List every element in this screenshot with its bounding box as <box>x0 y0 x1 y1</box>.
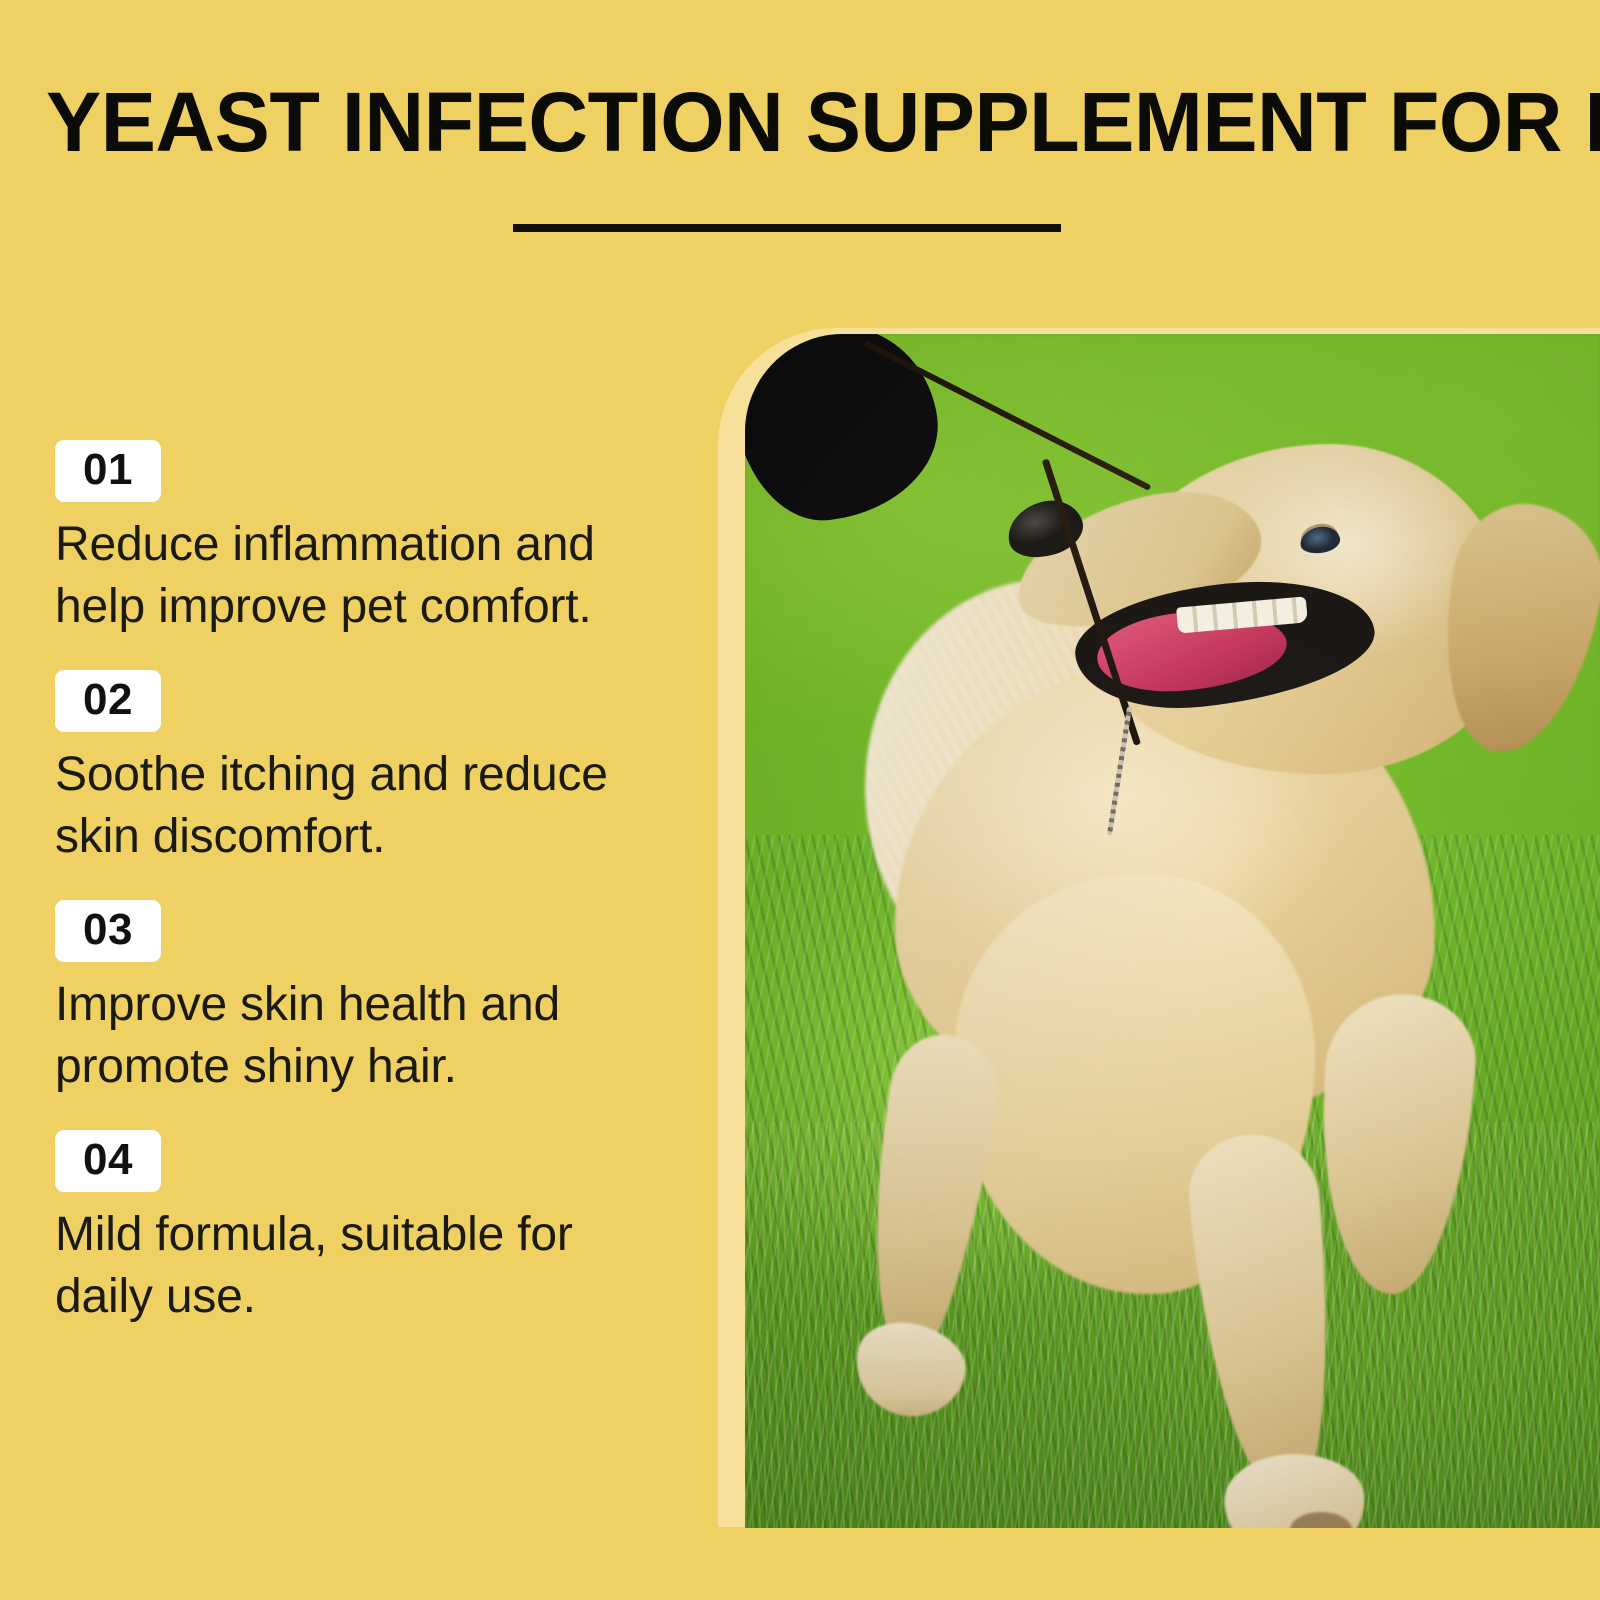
dog-figure <box>745 334 1600 1528</box>
feature-description: Improve skin health and promote shiny ha… <box>55 974 655 1098</box>
feature-item: 02 Soothe itching and reduce skin discom… <box>55 670 665 868</box>
dog-paw <box>1221 1449 1368 1528</box>
feature-item: 04 Mild formula, suitable for daily use. <box>55 1130 665 1328</box>
feature-description: Mild formula, suitable for daily use. <box>55 1204 655 1328</box>
page-title: YEAST INFECTION SUPPLEMENT FOR DOGS <box>46 78 1543 166</box>
feature-list: 01 Reduce inflammation and help improve … <box>55 440 665 1328</box>
feature-number-badge: 01 <box>55 440 161 502</box>
dog-front-right-leg <box>848 1028 1006 1371</box>
poster-canvas: YEAST INFECTION SUPPLEMENT FOR DOGS 01 R… <box>0 0 1600 1600</box>
feature-description: Soothe itching and reduce skin discomfor… <box>55 744 655 868</box>
feature-item: 01 Reduce inflammation and help improve … <box>55 440 665 638</box>
feature-number-badge: 04 <box>55 1130 161 1192</box>
feature-number-badge: 02 <box>55 670 161 732</box>
dog-rear-leg <box>1310 989 1481 1299</box>
title-divider <box>513 224 1061 232</box>
dog-paw <box>847 1314 974 1427</box>
dog-photo <box>745 334 1600 1528</box>
feature-item: 03 Improve skin health and promote shiny… <box>55 900 665 1098</box>
feature-description: Reduce inflammation and help improve pet… <box>55 514 655 638</box>
feature-number-badge: 03 <box>55 900 161 962</box>
dog-front-left-leg <box>1184 1129 1346 1509</box>
